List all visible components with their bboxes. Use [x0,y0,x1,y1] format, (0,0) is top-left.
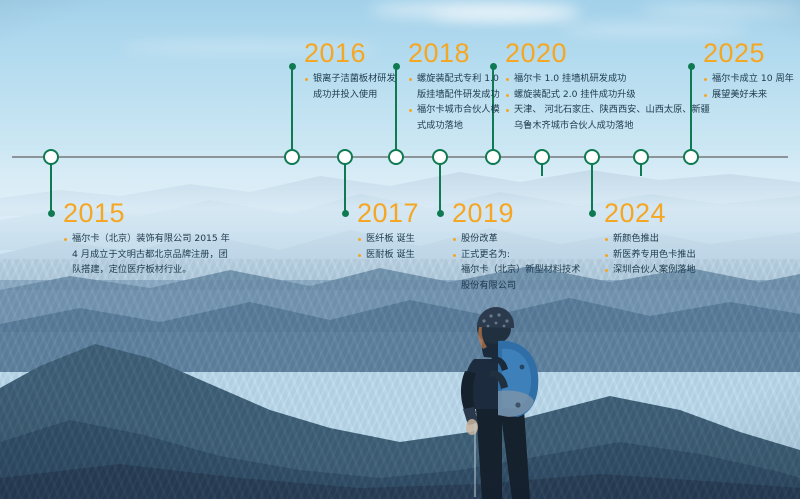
milestone-bullet-list: 医纤板 诞生医耐板 诞生 [357,232,419,262]
milestone-bullet: 深圳合伙人案例落地 [604,263,696,278]
milestone-bullet: 螺旋装配式专利 1.0 [408,72,500,87]
milestone-year-label: 2015 [63,198,230,228]
milestone-2016[interactable]: 2016银离子洁菌板材研发成功并投入使用 [304,38,396,103]
milestone-bullet-list: 福尔卡 1.0 挂墙机研发成功螺旋装配式 2.0 挂件成功升级天津、 河北石家庄… [505,72,710,133]
milestone-bullet: 正式更名为: [452,248,580,263]
milestone-2024[interactable]: 2024新颜色推出新医养专用色卡推出深圳合伙人案例落地 [604,198,696,279]
milestone-year-label: 2019 [452,198,580,228]
timeline-stem-2017 [344,162,346,214]
milestone-year-label: 2016 [304,38,396,68]
timeline-node-plain-1[interactable] [633,149,649,165]
milestone-year-label: 2017 [357,198,419,228]
milestone-bullet: 医耐板 诞生 [357,248,419,263]
timeline-stem-2019 [439,162,441,214]
cloud [560,24,750,36]
milestone-2017[interactable]: 2017医纤板 诞生医耐板 诞生 [357,198,419,263]
timeline-node-2024[interactable] [584,149,600,165]
milestone-bullet: 新颜色推出 [604,232,696,247]
milestone-bullet: 福尔卡成立 10 周年 [703,72,794,87]
terrain-texture [0,259,800,499]
milestone-bullet: 展望美好未来 [703,88,794,103]
milestone-bullet-list: 福尔卡（北京）装饰有限公司 2015 年4 月成立于文明古都北京品牌注册，团队搭… [63,232,230,278]
milestone-bullet: 股份有限公司 [452,279,580,294]
milestone-year-label: 2024 [604,198,696,228]
milestone-bullet: 福尔卡城市合伙人模 [408,103,500,118]
milestone-2025[interactable]: 2025福尔卡成立 10 周年展望美好未来 [703,38,794,103]
timeline-stem-endcap-2024 [589,210,596,217]
milestone-bullet: 医纤板 诞生 [357,232,419,247]
timeline-node-2020[interactable] [485,149,501,165]
milestone-2020[interactable]: 2020福尔卡 1.0 挂墙机研发成功螺旋装配式 2.0 挂件成功升级天津、 河… [505,38,710,134]
timeline-stem-2016 [291,66,293,152]
milestone-bullet-list: 新颜色推出新医养专用色卡推出深圳合伙人案例落地 [604,232,696,278]
milestone-year-label: 2020 [505,38,710,68]
timeline-node-2016[interactable] [284,149,300,165]
timeline-node-plain-0[interactable] [534,149,550,165]
hiker-figure [432,305,562,499]
milestone-bullet: 股份改革 [452,232,580,247]
timeline-stem-endcap-2015 [48,210,55,217]
milestone-bullet: 乌鲁木齐城市合伙人成功落地 [505,119,710,134]
milestone-bullet: 银离子洁菌板材研发 [304,72,396,87]
timeline-node-2015[interactable] [43,149,59,165]
milestone-2018[interactable]: 2018螺旋装配式专利 1.0版挂墙配件研发成功福尔卡城市合伙人模式成功落地 [408,38,500,134]
milestone-bullet: 队搭建，定位医疗板材行业。 [63,263,230,278]
milestone-bullet: 福尔卡 1.0 挂墙机研发成功 [505,72,710,87]
milestone-bullet: 螺旋装配式 2.0 挂件成功升级 [505,88,710,103]
milestone-bullet: 福尔卡（北京）新型材料技术 [452,263,580,278]
timeline-node-2019[interactable] [432,149,448,165]
milestone-bullet-list: 银离子洁菌板材研发成功并投入使用 [304,72,396,102]
milestone-bullet: 成功并投入使用 [304,88,396,103]
milestone-bullet: 福尔卡（北京）装饰有限公司 2015 年 [63,232,230,247]
timeline-stem-2015 [50,162,52,214]
timeline-stem-endcap-2017 [342,210,349,217]
cloud [430,10,580,20]
timeline-node-2017[interactable] [337,149,353,165]
milestone-bullet-list: 福尔卡成立 10 周年展望美好未来 [703,72,794,102]
milestone-bullet: 新医养专用色卡推出 [604,248,696,263]
timeline-stem-endcap-2019 [437,210,444,217]
milestone-2019[interactable]: 2019股份改革正式更名为:福尔卡（北京）新型材料技术股份有限公司 [452,198,580,294]
milestone-bullet: 版挂墙配件研发成功 [408,88,500,103]
milestone-2015[interactable]: 2015福尔卡（北京）装饰有限公司 2015 年4 月成立于文明古都北京品牌注册… [63,198,230,279]
cloud [640,6,800,15]
milestone-year-label: 2018 [408,38,500,68]
milestone-bullet: 式成功落地 [408,119,500,134]
milestone-year-label: 2025 [703,38,794,68]
timeline-node-2025[interactable] [683,149,699,165]
timeline-node-2018[interactable] [388,149,404,165]
milestone-bullet-list: 螺旋装配式专利 1.0版挂墙配件研发成功福尔卡城市合伙人模式成功落地 [408,72,500,133]
timeline-stem-endcap-2016 [289,63,296,70]
timeline-infographic: 2015福尔卡（北京）装饰有限公司 2015 年4 月成立于文明古都北京品牌注册… [0,0,800,499]
milestone-bullet: 4 月成立于文明古都北京品牌注册，团 [63,248,230,263]
timeline-stem-2024 [591,162,593,214]
milestone-bullet: 天津、 河北石家庄、陕西西安、山西太原、新疆 [505,103,710,118]
milestone-bullet-list: 股份改革正式更名为:福尔卡（北京）新型材料技术股份有限公司 [452,232,580,293]
